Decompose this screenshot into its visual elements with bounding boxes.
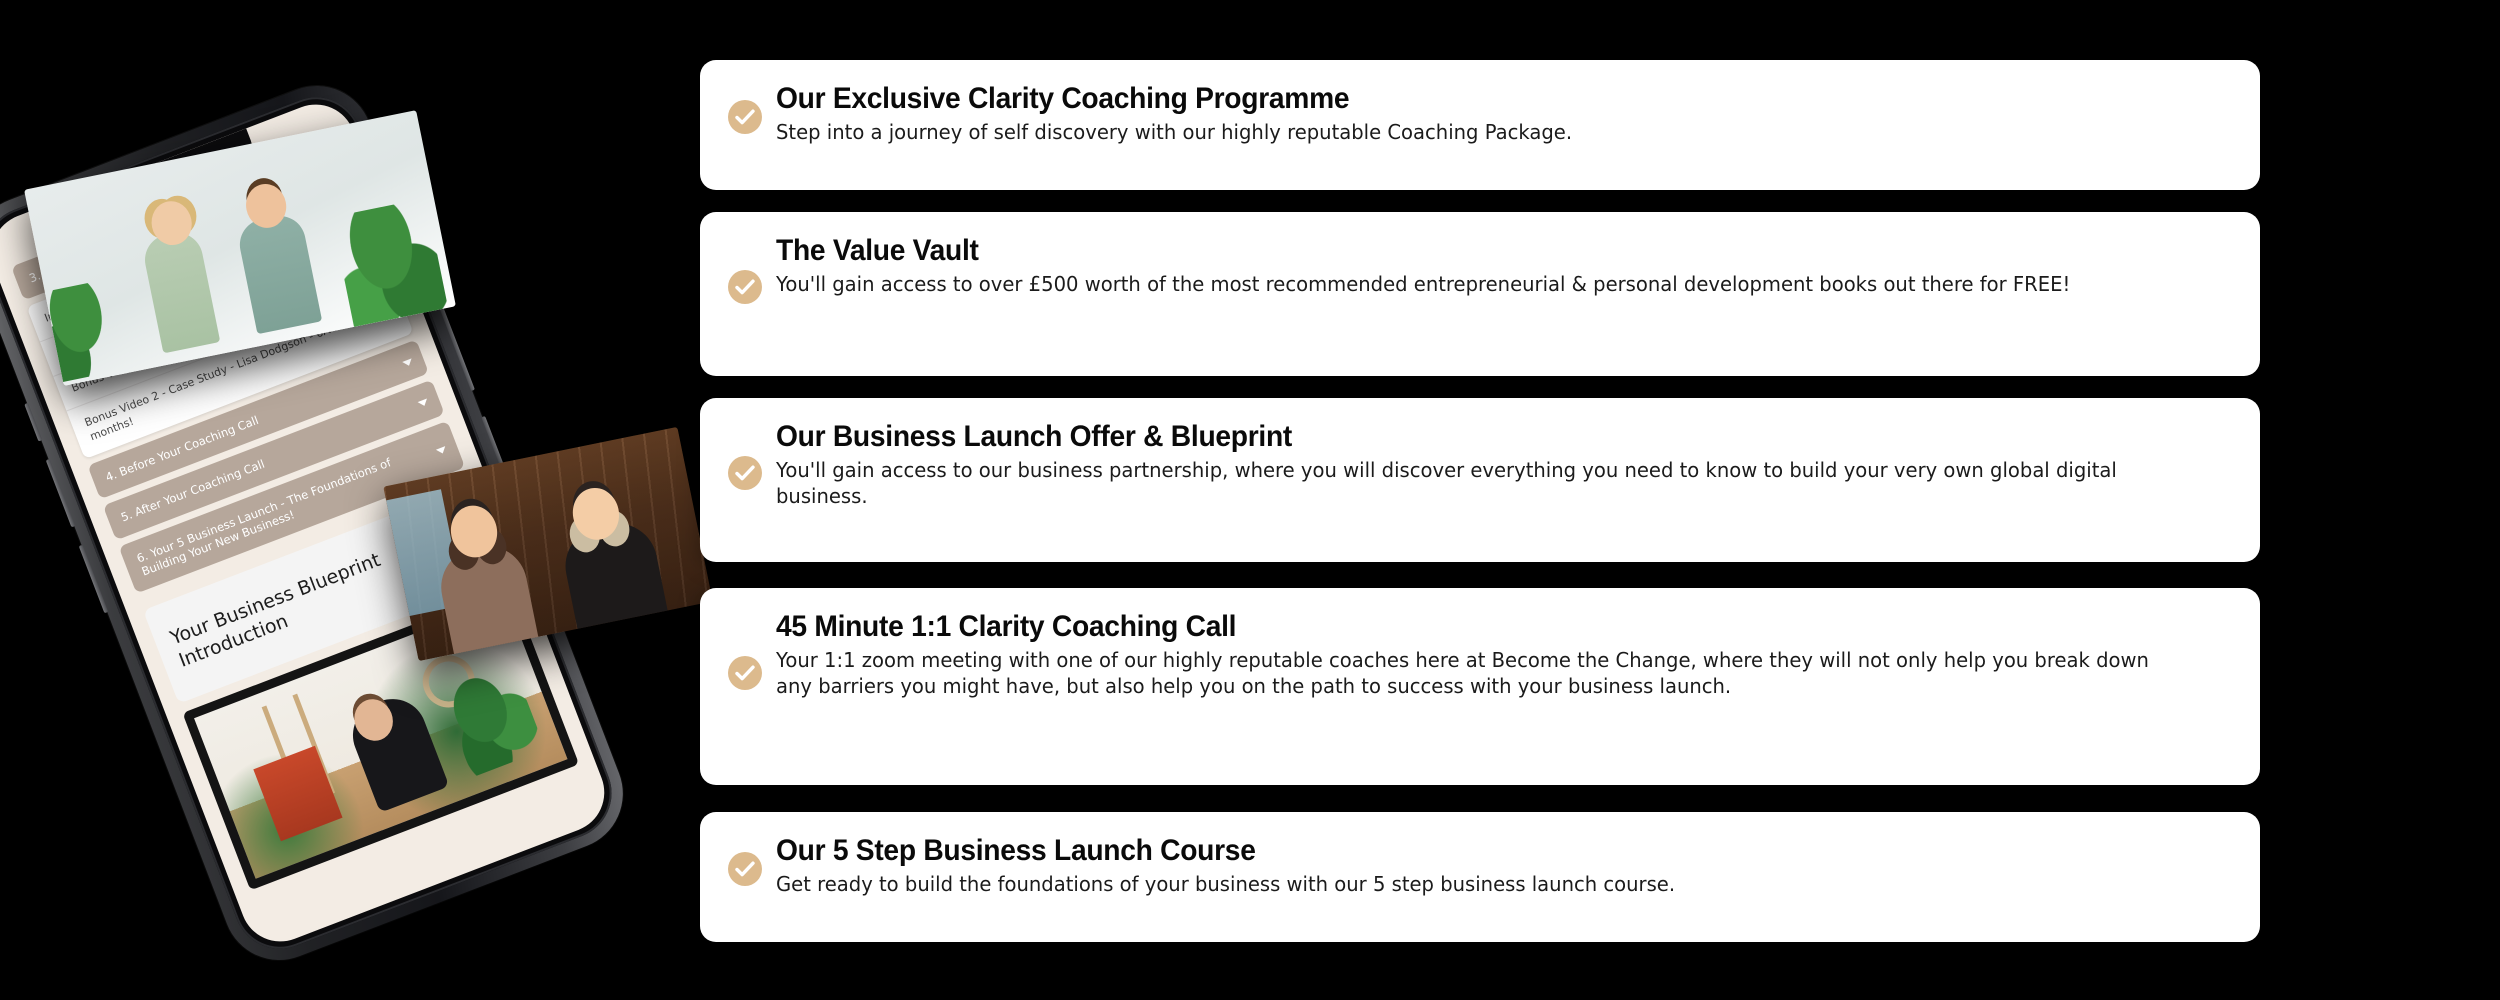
presenter-man-body	[235, 211, 322, 334]
check-circle-icon	[728, 852, 762, 886]
check-circle-icon	[728, 656, 762, 690]
benefit-card: Our Exclusive Clarity Coaching Programme…	[700, 60, 2260, 190]
decor-curtain	[253, 745, 342, 841]
benefit-card: Our 5 Step Business Launch Course Get re…	[700, 812, 2260, 942]
decor-plant-right	[332, 198, 449, 331]
benefit-description: Get ready to build the foundations of yo…	[776, 871, 2161, 898]
chevron-down-icon	[402, 358, 413, 367]
phone-mute-switch[interactable]	[24, 403, 42, 442]
chevron-down-icon	[436, 446, 447, 455]
presenter-woman-body	[140, 228, 220, 353]
benefit-description: Your 1:1 zoom meeting with one of our hi…	[776, 647, 2161, 700]
benefit-title: Our 5 Step Business Launch Course	[776, 834, 2139, 868]
benefit-title: 45 Minute 1:1 Clarity Coaching Call	[776, 610, 2139, 644]
benefit-title: Our Business Launch Offer & Blueprint	[776, 420, 2139, 454]
benefit-card: The Value Vault You'll gain access to ov…	[700, 212, 2260, 376]
check-circle-icon	[728, 100, 762, 134]
benefit-title: Our Exclusive Clarity Coaching Programme	[776, 82, 2139, 116]
check-circle-icon	[728, 270, 762, 304]
benefit-card: Our Business Launch Offer & Blueprint Yo…	[700, 398, 2260, 562]
page-root: 3. Your Business Blueprint Introducing o…	[0, 0, 2500, 1000]
check-circle-icon	[728, 456, 762, 490]
benefit-description: You'll gain access to our business partn…	[776, 457, 2161, 510]
device-collage: 3. Your Business Blueprint Introducing o…	[0, 0, 760, 1000]
chevron-down-icon	[418, 399, 429, 408]
benefit-title: The Value Vault	[776, 234, 2139, 268]
benefits-list: Our Exclusive Clarity Coaching Programme…	[700, 0, 2260, 1000]
benefit-description: You'll gain access to over £500 worth of…	[776, 271, 2161, 298]
benefit-card: 45 Minute 1:1 Clarity Coaching Call Your…	[700, 588, 2260, 785]
benefit-description: Step into a journey of self discovery wi…	[776, 119, 2161, 146]
